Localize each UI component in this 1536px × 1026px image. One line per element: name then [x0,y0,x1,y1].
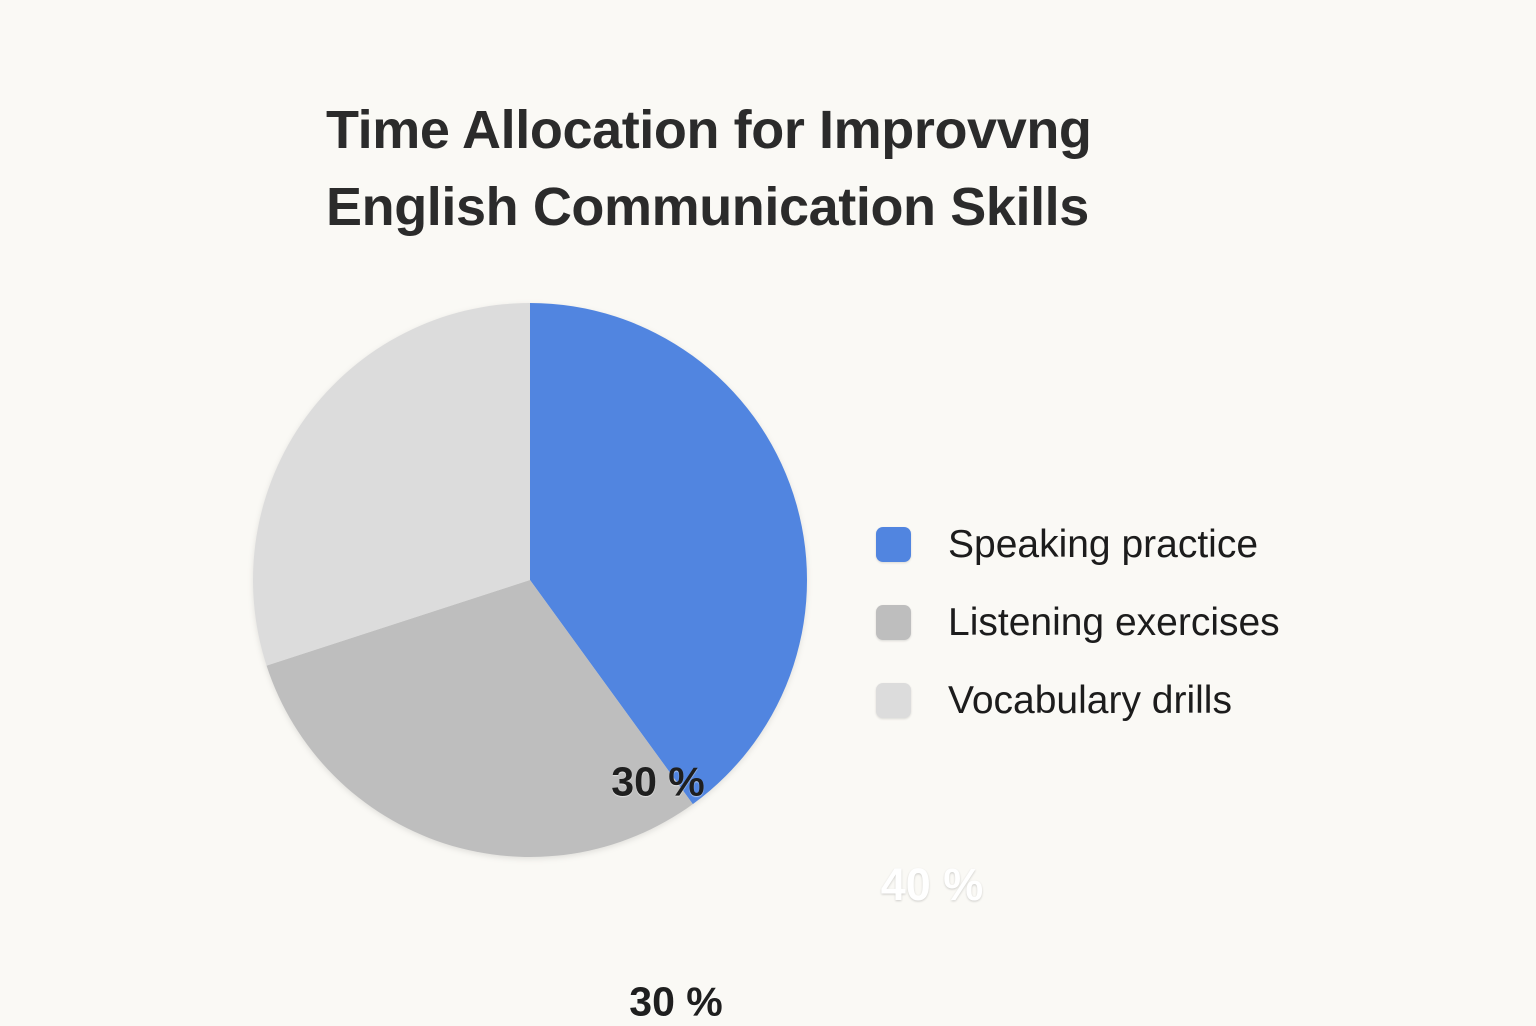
chart-legend: Speaking practice Listening exercises Vo… [876,505,1280,739]
legend-label-listening-exercises: Listening exercises [948,603,1280,642]
slice-label-speaking-practice: 40 % [881,859,984,911]
chart-title: Time Allocation for Improvvng English Co… [326,92,1226,245]
legend-label-vocabulary-drills: Vocabulary drills [948,681,1232,720]
legend-item-vocabulary-drills[interactable]: Vocabulary drills [876,661,1280,739]
legend-swatch-icon-speaking-practice [876,527,911,562]
pie-svg [252,302,808,858]
slice-label-listening-exercises: 30 % [629,979,722,1026]
legend-swatch-icon-listening-exercises [876,605,911,640]
pie-chart-plot-area: 40 % 30 % 30 % [252,302,808,858]
legend-item-speaking-practice[interactable]: Speaking practice [876,505,1280,583]
pie-chart-figure: Time Allocation for Improvvng English Co… [0,0,1536,1024]
legend-item-listening-exercises[interactable]: Listening exercises [876,583,1280,661]
legend-label-speaking-practice: Speaking practice [948,525,1258,564]
pie-slice-group [253,303,807,857]
legend-swatch-icon-vocabulary-drills [876,683,911,718]
